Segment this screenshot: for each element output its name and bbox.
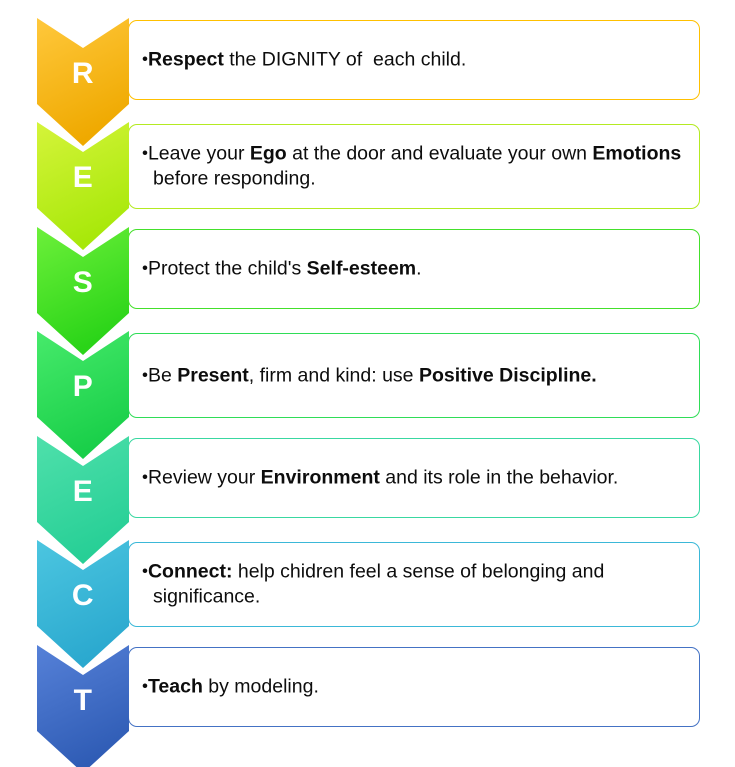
statement-text-container: •Teach by modeling. [142,674,687,699]
statement-keyword: Positive Discipline. [419,364,597,386]
statement-fragment: by modeling. [203,675,319,697]
statement-text: •Be Present, firm and kind: use Positive… [142,363,687,388]
statement-fragment: Protect the child's [148,257,307,279]
statement-text-container: •Be Present, firm and kind: use Positive… [142,363,687,388]
statement-keyword: Respect [148,48,224,70]
statement-fragment: Be [148,364,177,386]
statement-fragment: Leave your [148,142,250,164]
chevron-letter: T [37,686,129,716]
statement-text: •Teach by modeling. [142,674,687,699]
chevron-letter: S [37,268,129,298]
statement-fragment: . [416,257,421,279]
statement-text: •Review your Environment and its role in… [142,465,687,490]
chevron-letter: R [37,59,129,89]
statement-keyword: Emotions [592,142,681,164]
statement-text-container: •Connect: help chidren feel a sense of b… [142,559,687,610]
statement-keyword: Teach [148,675,203,697]
statement-fragment: the DIGNITY of each child. [224,48,466,70]
statement-text: •Leave your Ego at the door and evaluate… [142,141,687,192]
statement-fragment: , firm and kind: use [249,364,419,386]
statement-card[interactable]: •Be Present, firm and kind: use Positive… [128,333,700,418]
chevron-t-6[interactable]: T [37,645,129,767]
statement-keyword: Ego [250,142,287,164]
statement-text: •Respect the DIGNITY of each child. [142,47,687,72]
chevron-letter: P [37,372,129,402]
statement-keyword: Environment [261,466,380,488]
statement-text: •Connect: help chidren feel a sense of b… [142,559,687,610]
statement-keyword: Self-esteem [307,257,416,279]
statement-fragment: at the door and evaluate your own [287,142,593,164]
statement-keyword: Present [177,364,249,386]
statement-card[interactable]: •Teach by modeling. [128,647,700,727]
statement-card[interactable]: •Connect: help chidren feel a sense of b… [128,542,700,627]
chevron-letter: E [37,163,129,193]
statement-card[interactable]: •Respect the DIGNITY of each child. [128,20,700,100]
statement-card[interactable]: •Protect the child's Self-esteem. [128,229,700,309]
respect-infographic: R•Respect the DIGNITY of each child.E•Le… [0,0,735,767]
statement-text: •Protect the child's Self-esteem. [142,256,687,281]
chevron-letter: E [37,477,129,507]
statement-fragment: and its role in the behavior. [380,466,619,488]
statement-fragment: Review your [148,466,261,488]
statement-card[interactable]: •Review your Environment and its role in… [128,438,700,518]
statement-text-container: •Protect the child's Self-esteem. [142,256,687,281]
statement-keyword: Connect: [148,560,233,582]
statement-card[interactable]: •Leave your Ego at the door and evaluate… [128,124,700,209]
statement-text-container: •Review your Environment and its role in… [142,465,687,490]
chevron-letter: C [37,581,129,611]
statement-text-container: •Leave your Ego at the door and evaluate… [142,141,687,192]
statement-text-container: •Respect the DIGNITY of each child. [142,47,687,72]
